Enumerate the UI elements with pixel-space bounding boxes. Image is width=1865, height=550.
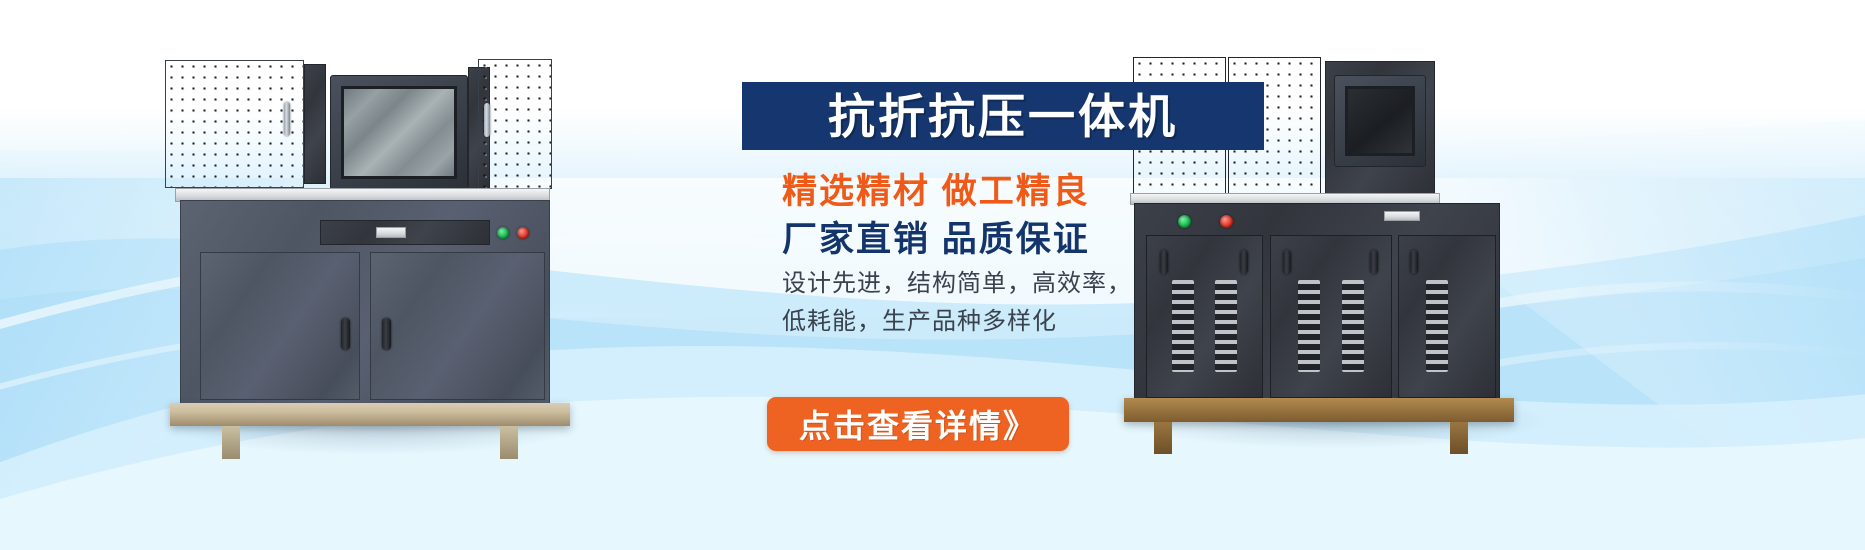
subtitle-navy: 厂家直销 品质保证 bbox=[782, 211, 1090, 262]
product-image-left bbox=[160, 45, 590, 445]
feature-line-2: 低耗能，生产品种多样化 bbox=[782, 301, 1057, 336]
right-indicator-green bbox=[1178, 215, 1191, 228]
left-lower-door-2 bbox=[370, 252, 545, 400]
feature-line-1: 设计先进，结构简单，高效率， bbox=[782, 263, 1132, 298]
right-pallet-board bbox=[1124, 398, 1514, 422]
left-upper-right-handle bbox=[484, 103, 490, 137]
left-lower-door-2-handle bbox=[382, 318, 391, 350]
right-door-1-vent-left bbox=[1172, 280, 1194, 372]
left-indicator-green bbox=[497, 227, 509, 239]
headline-bar: 抗折抗压一体机 bbox=[742, 82, 1264, 150]
left-pallet-leg-1 bbox=[222, 426, 240, 459]
left-upper-left-handle bbox=[284, 102, 290, 136]
right-lower-door-3-handle bbox=[1410, 250, 1418, 274]
right-monitor-screen bbox=[1345, 86, 1415, 156]
right-door-2-vent-right bbox=[1342, 280, 1364, 372]
right-door-3-vent bbox=[1426, 280, 1448, 372]
right-drawer-label bbox=[1384, 211, 1420, 221]
left-lower-door-1 bbox=[200, 252, 360, 400]
subtitle-orange: 精选精材 做工精良 bbox=[782, 163, 1090, 214]
left-lower-door-1-handle bbox=[341, 318, 350, 350]
promo-banner: 抗折抗压一体机 精选精材 做工精良 厂家直销 品质保证 设计先进，结构简单，高效… bbox=[0, 0, 1865, 550]
right-door-1-vent-right bbox=[1215, 280, 1237, 372]
left-monitor-frame bbox=[330, 75, 468, 190]
right-indicator-red bbox=[1220, 215, 1233, 228]
right-pallet-leg-1 bbox=[1154, 422, 1172, 454]
right-lower-door-1-handle-right bbox=[1240, 250, 1248, 274]
left-pallet-leg-2 bbox=[500, 426, 518, 459]
page-title: 抗折抗压一体机 bbox=[828, 93, 1178, 140]
right-lower-door-1-handle-left bbox=[1160, 250, 1168, 274]
view-details-button-label: 点击查看详情》 bbox=[799, 401, 1037, 447]
left-monitor-screen bbox=[341, 86, 457, 179]
left-drawer-label bbox=[376, 227, 406, 238]
right-door-2-vent-left bbox=[1298, 280, 1320, 372]
view-details-button[interactable]: 点击查看详情》 bbox=[767, 397, 1069, 451]
left-upper-cabinet-side bbox=[304, 64, 326, 184]
left-pallet-board bbox=[170, 403, 570, 426]
right-lower-door-2-handle-right bbox=[1370, 250, 1378, 274]
right-monitor-frame bbox=[1334, 75, 1426, 167]
right-lower-door-2-handle-left bbox=[1283, 250, 1291, 274]
right-pallet-leg-2 bbox=[1450, 422, 1468, 454]
left-indicator-red bbox=[517, 227, 529, 239]
